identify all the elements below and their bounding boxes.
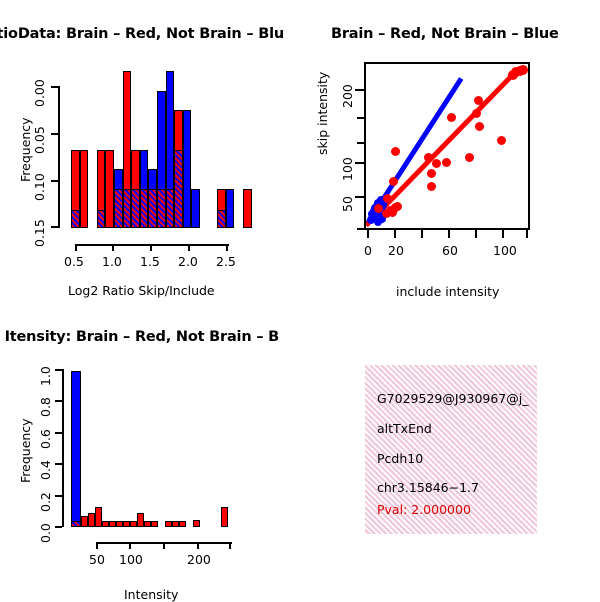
bar-red [95,507,102,527]
bar-red [80,150,89,228]
bar-red [221,507,228,527]
scatter-point-red [518,65,528,75]
scatter-y-tick-major-50 [355,196,364,198]
scatter-x-tick-120 [526,230,528,238]
scatter-x-ticklabel-20: 20 [388,243,404,258]
ratio-y-ticklabel-2: 0.05 [32,126,47,154]
ratio-x-tick-0.5 [75,244,77,251]
scatter-y-tick-minor-2 [357,142,364,144]
gene-info-box: G7029529@J930967@j_ altTxEnd Pcdh10 chr3… [365,365,537,534]
scatter-y-tick-major-200 [355,89,364,91]
bar-overlap [148,189,157,228]
scatter-y-ticklabel-100: 100 [340,157,355,181]
bar-blue [71,371,81,527]
ratio-histogram-panel: RatioData: Brain – Red, Not Brain – Blu … [0,0,300,305]
ratio-x-ticklabel-4: 2.5 [216,254,236,269]
intensity-y-ticklabel-4: 0.8 [38,397,53,417]
scatter-x-ticklabel-100: 100 [493,243,517,258]
bar-red [243,189,252,228]
info-line-event: altTxEnd [377,421,432,436]
bar-overlap [114,189,123,228]
bar-red [130,521,137,527]
bar-red [165,521,172,527]
bar-red [193,520,200,527]
intensity-histogram-panel: ne Itensity: Brain – Red, Not Brain – B … [0,305,300,600]
ratio-y-tick-0.10 [51,133,58,135]
scatter-x-tick-100 [502,230,504,238]
scatter-point-red [427,169,436,178]
intensity-bars-area [62,363,272,528]
scatter-point-red [383,194,392,203]
scatter-title: Brain – Red, Not Brain – Blue [331,26,559,42]
scatter-panel: Brain – Red, Not Brain – Blue skip inten… [300,0,600,305]
info-line-id: G7029529@J930967@j_ [377,391,528,406]
bar-red [144,521,151,527]
scatter-x-tick-20 [394,230,396,238]
scatter-x-tick-40 [421,230,423,238]
bar-overlap [71,521,81,527]
intensity-histogram-title: ne Itensity: Brain – Red, Not Brain – B [0,329,279,345]
intensity-x-ticklabel-50: 50 [89,552,105,567]
intensity-x-ticklabel-200: 200 [187,552,211,567]
bar-overlap [131,189,140,228]
scatter-ylabel: skip intensity [315,72,330,155]
ratio-x-tick-2.5 [226,244,228,251]
ratio-x-tick-2.0 [188,244,190,251]
scatter-point-red [474,96,483,105]
scatter-x-tick-0 [367,230,369,238]
bar-red [172,521,179,527]
intensity-x-tick-250 [229,542,231,549]
scatter-y-ticklabel-200: 200 [340,84,355,108]
intensity-x-tick-200 [197,542,199,549]
bar-overlap [174,150,183,228]
bar-red [81,516,88,527]
ratio-bars-area [58,55,258,229]
intensity-y-tick-0.2 [55,495,62,497]
scatter-point-red [472,109,481,118]
scatter-point-red [475,122,484,131]
ratio-x-tick-1.5 [150,244,152,251]
scatter-x-ticklabel-0: 0 [364,243,372,258]
scatter-x-ticklabel-60: 60 [442,243,458,258]
intensity-y-tick-0.4 [55,463,62,465]
bar-red [137,513,144,527]
intensity-y-tick-1.0 [55,369,62,371]
bar-overlap [217,210,226,228]
intensity-y-tick-0.0 [55,526,62,528]
intensity-y-ticklabel-0: 0.0 [38,523,53,543]
bar-red [109,521,116,527]
scatter-point-red [442,158,451,167]
scatter-y-tick-major-100 [355,162,364,164]
intensity-y-ticklabel-5: 1.0 [38,366,53,386]
bar-red [123,521,130,527]
scatter-point-red [391,147,400,156]
scatter-point-red [393,202,402,211]
intensity-x-tick-50 [96,542,98,549]
info-line-pval: Pval: 2.000000 [377,502,471,517]
scatter-point-red [389,177,398,186]
bar-red [102,521,109,527]
intensity-x-tick-150 [163,542,165,549]
intensity-x-ticklabel-100: 100 [119,552,143,567]
ratio-histogram-title: RatioData: Brain – Red, Not Brain – Blu [0,26,284,42]
ratio-histogram-xlabel: Log2 Ratio Skip/Include [68,283,215,298]
scatter-y-ticklabel-50: 50 [340,196,355,212]
scatter-point-red [497,136,506,145]
scatter-xlabel: include intensity [396,284,499,299]
ratio-x-ticklabel-1: 1.0 [102,254,122,269]
scatter-y-tick-minor-1 [357,117,364,119]
scatter-data-area [366,64,528,228]
intensity-x-tick-100 [129,542,131,549]
bar-overlap [71,210,80,228]
bar-overlap [166,189,175,228]
scatter-point-red [447,113,456,122]
bar-overlap [97,210,106,228]
ratio-y-ticklabel-0: 0.15 [32,219,47,247]
ratio-x-ticklabel-3: 2.0 [178,254,198,269]
ratio-x-ticklabel-0: 0.5 [64,254,84,269]
bar-overlap [140,189,149,228]
bar-red [88,513,95,527]
fit-line-red [366,70,518,227]
intensity-histogram-ylabel: Frequency [18,418,33,483]
ratio-y-ticklabel-1: 0.10 [32,173,47,201]
bar-red [151,521,158,527]
scatter-x-tick-80 [475,230,477,238]
scatter-y-tick-minor-3 [357,228,364,230]
ratio-histogram-ylabel: Frequency [18,117,33,182]
bar-blue [226,189,235,228]
ratio-x-ticklabel-2: 1.5 [140,254,160,269]
bar-red [105,150,114,228]
bar-overlap [157,189,166,228]
ratio-y-tick-0.15 [51,86,58,88]
info-line-gene: Pcdh10 [377,451,423,466]
scatter-x-tick-60 [448,230,450,238]
scatter-point-red [465,153,474,162]
intensity-y-ticklabel-2: 0.4 [38,460,53,480]
ratio-y-tick-0.00 [51,226,58,228]
ratio-y-tick-0.05 [51,180,58,182]
bar-red [179,521,186,527]
bar-overlap [123,189,132,228]
intensity-y-ticklabel-3: 0.6 [38,429,53,449]
bar-red [116,521,123,527]
ratio-y-ticklabel-3: 0.00 [32,79,47,107]
intensity-y-ticklabel-1: 0.2 [38,492,53,512]
scatter-point-red [427,182,436,191]
bar-blue [191,189,200,228]
scatter-point-red [432,159,441,168]
intensity-y-tick-0.8 [55,400,62,402]
info-line-locus: chr3.15846−1.7 [377,480,479,495]
intensity-y-tick-0.6 [55,432,62,434]
ratio-x-tick-1.0 [112,244,114,251]
bar-blue [183,110,192,228]
